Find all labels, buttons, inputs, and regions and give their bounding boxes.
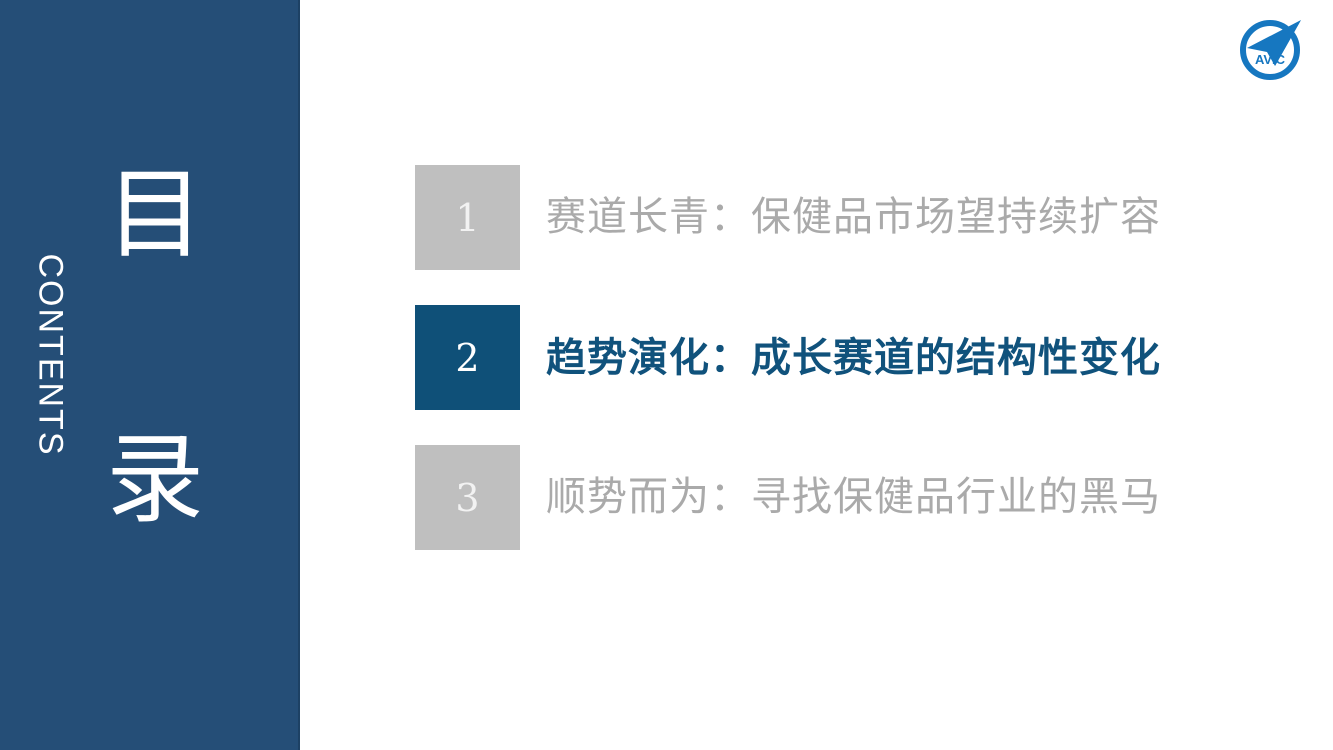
- avic-logo: AVIC: [1231, 8, 1315, 92]
- sidebar-title-cn-bottom: 录: [100, 425, 210, 535]
- toc-number-badge-3: 3: [415, 445, 520, 550]
- toc-number-badge-2: 2: [415, 305, 520, 410]
- svg-text:AVIC: AVIC: [1255, 52, 1286, 67]
- toc-label-2: 趋势演化：成长赛道的结构性变化: [546, 305, 1161, 410]
- toc-list: 1 赛道长青：保健品市场望持续扩容 2 趋势演化：成长赛道的结构性变化 3 顺势…: [415, 165, 1175, 550]
- toc-number-badge-1: 1: [415, 165, 520, 270]
- sidebar-title-en: CONTENTS: [31, 254, 70, 457]
- toc-label-1: 赛道长青：保健品市场望持续扩容: [546, 165, 1161, 270]
- toc-label-3: 顺势而为：寻找保健品行业的黑马: [546, 445, 1161, 550]
- slide-canvas: 目 CONTENTS 录 AVIC 1 赛道长青：保健品市场望持续扩容 2 趋势…: [0, 0, 1333, 750]
- toc-item-2[interactable]: 2 趋势演化：成长赛道的结构性变化: [415, 305, 1175, 410]
- toc-item-1[interactable]: 1 赛道长青：保健品市场望持续扩容: [415, 165, 1175, 270]
- sidebar-edge-divider: [298, 0, 300, 750]
- sidebar-title-cn-top: 目: [100, 160, 210, 270]
- toc-item-3[interactable]: 3 顺势而为：寻找保健品行业的黑马: [415, 445, 1175, 550]
